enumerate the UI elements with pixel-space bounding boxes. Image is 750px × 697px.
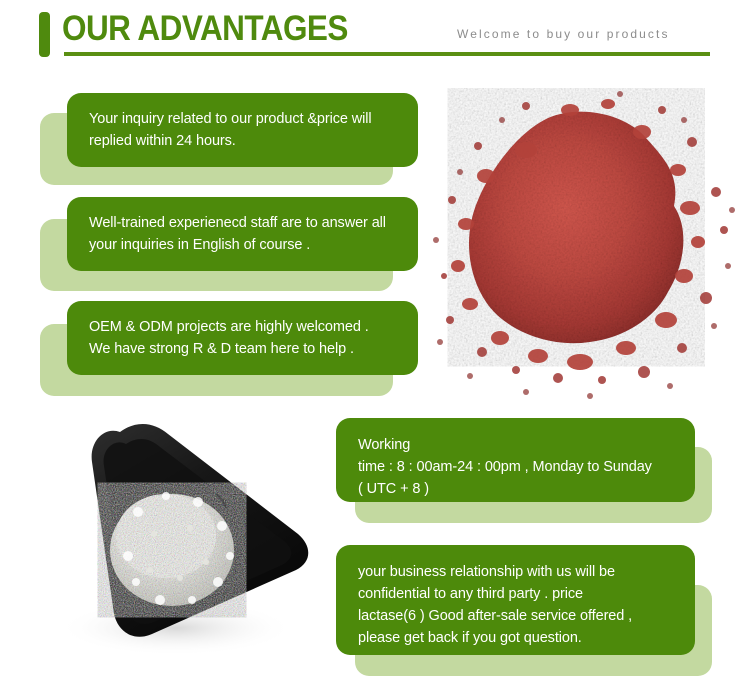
header-divider <box>64 52 710 56</box>
advantage-text: OEM & ODM projects are highly welcomed .… <box>89 316 406 360</box>
card-body: Your inquiry related to our product &pri… <box>67 93 418 167</box>
card-body: Well-trained experienecd staff are to an… <box>67 197 418 271</box>
advantage-text: Well-trained experienecd staff are to an… <box>89 212 406 256</box>
advantage-text: Your inquiry related to our product &pri… <box>89 108 406 152</box>
white-powder-illustration <box>40 410 340 672</box>
header-accent-bar <box>39 12 50 57</box>
advantages-page: OUR ADVANTAGES Welcome to buy our produc… <box>0 0 750 697</box>
working-time-text: Working time : 8 : 00am-24 : 00pm , Mond… <box>358 434 683 500</box>
page-header: OUR ADVANTAGES Welcome to buy our produc… <box>0 0 750 70</box>
card-body: Working time : 8 : 00am-24 : 00pm , Mond… <box>336 418 695 502</box>
red-powder-image <box>430 80 750 410</box>
confidentiality-text: your business relationship with us will … <box>358 561 683 649</box>
red-powder-illustration <box>430 80 750 410</box>
header-tagline: Welcome to buy our products <box>457 27 670 41</box>
page-title: OUR ADVANTAGES <box>62 8 348 50</box>
white-powder-dish-image <box>40 410 340 672</box>
card-body: OEM & ODM projects are highly welcomed .… <box>67 301 418 375</box>
card-body: your business relationship with us will … <box>336 545 695 655</box>
